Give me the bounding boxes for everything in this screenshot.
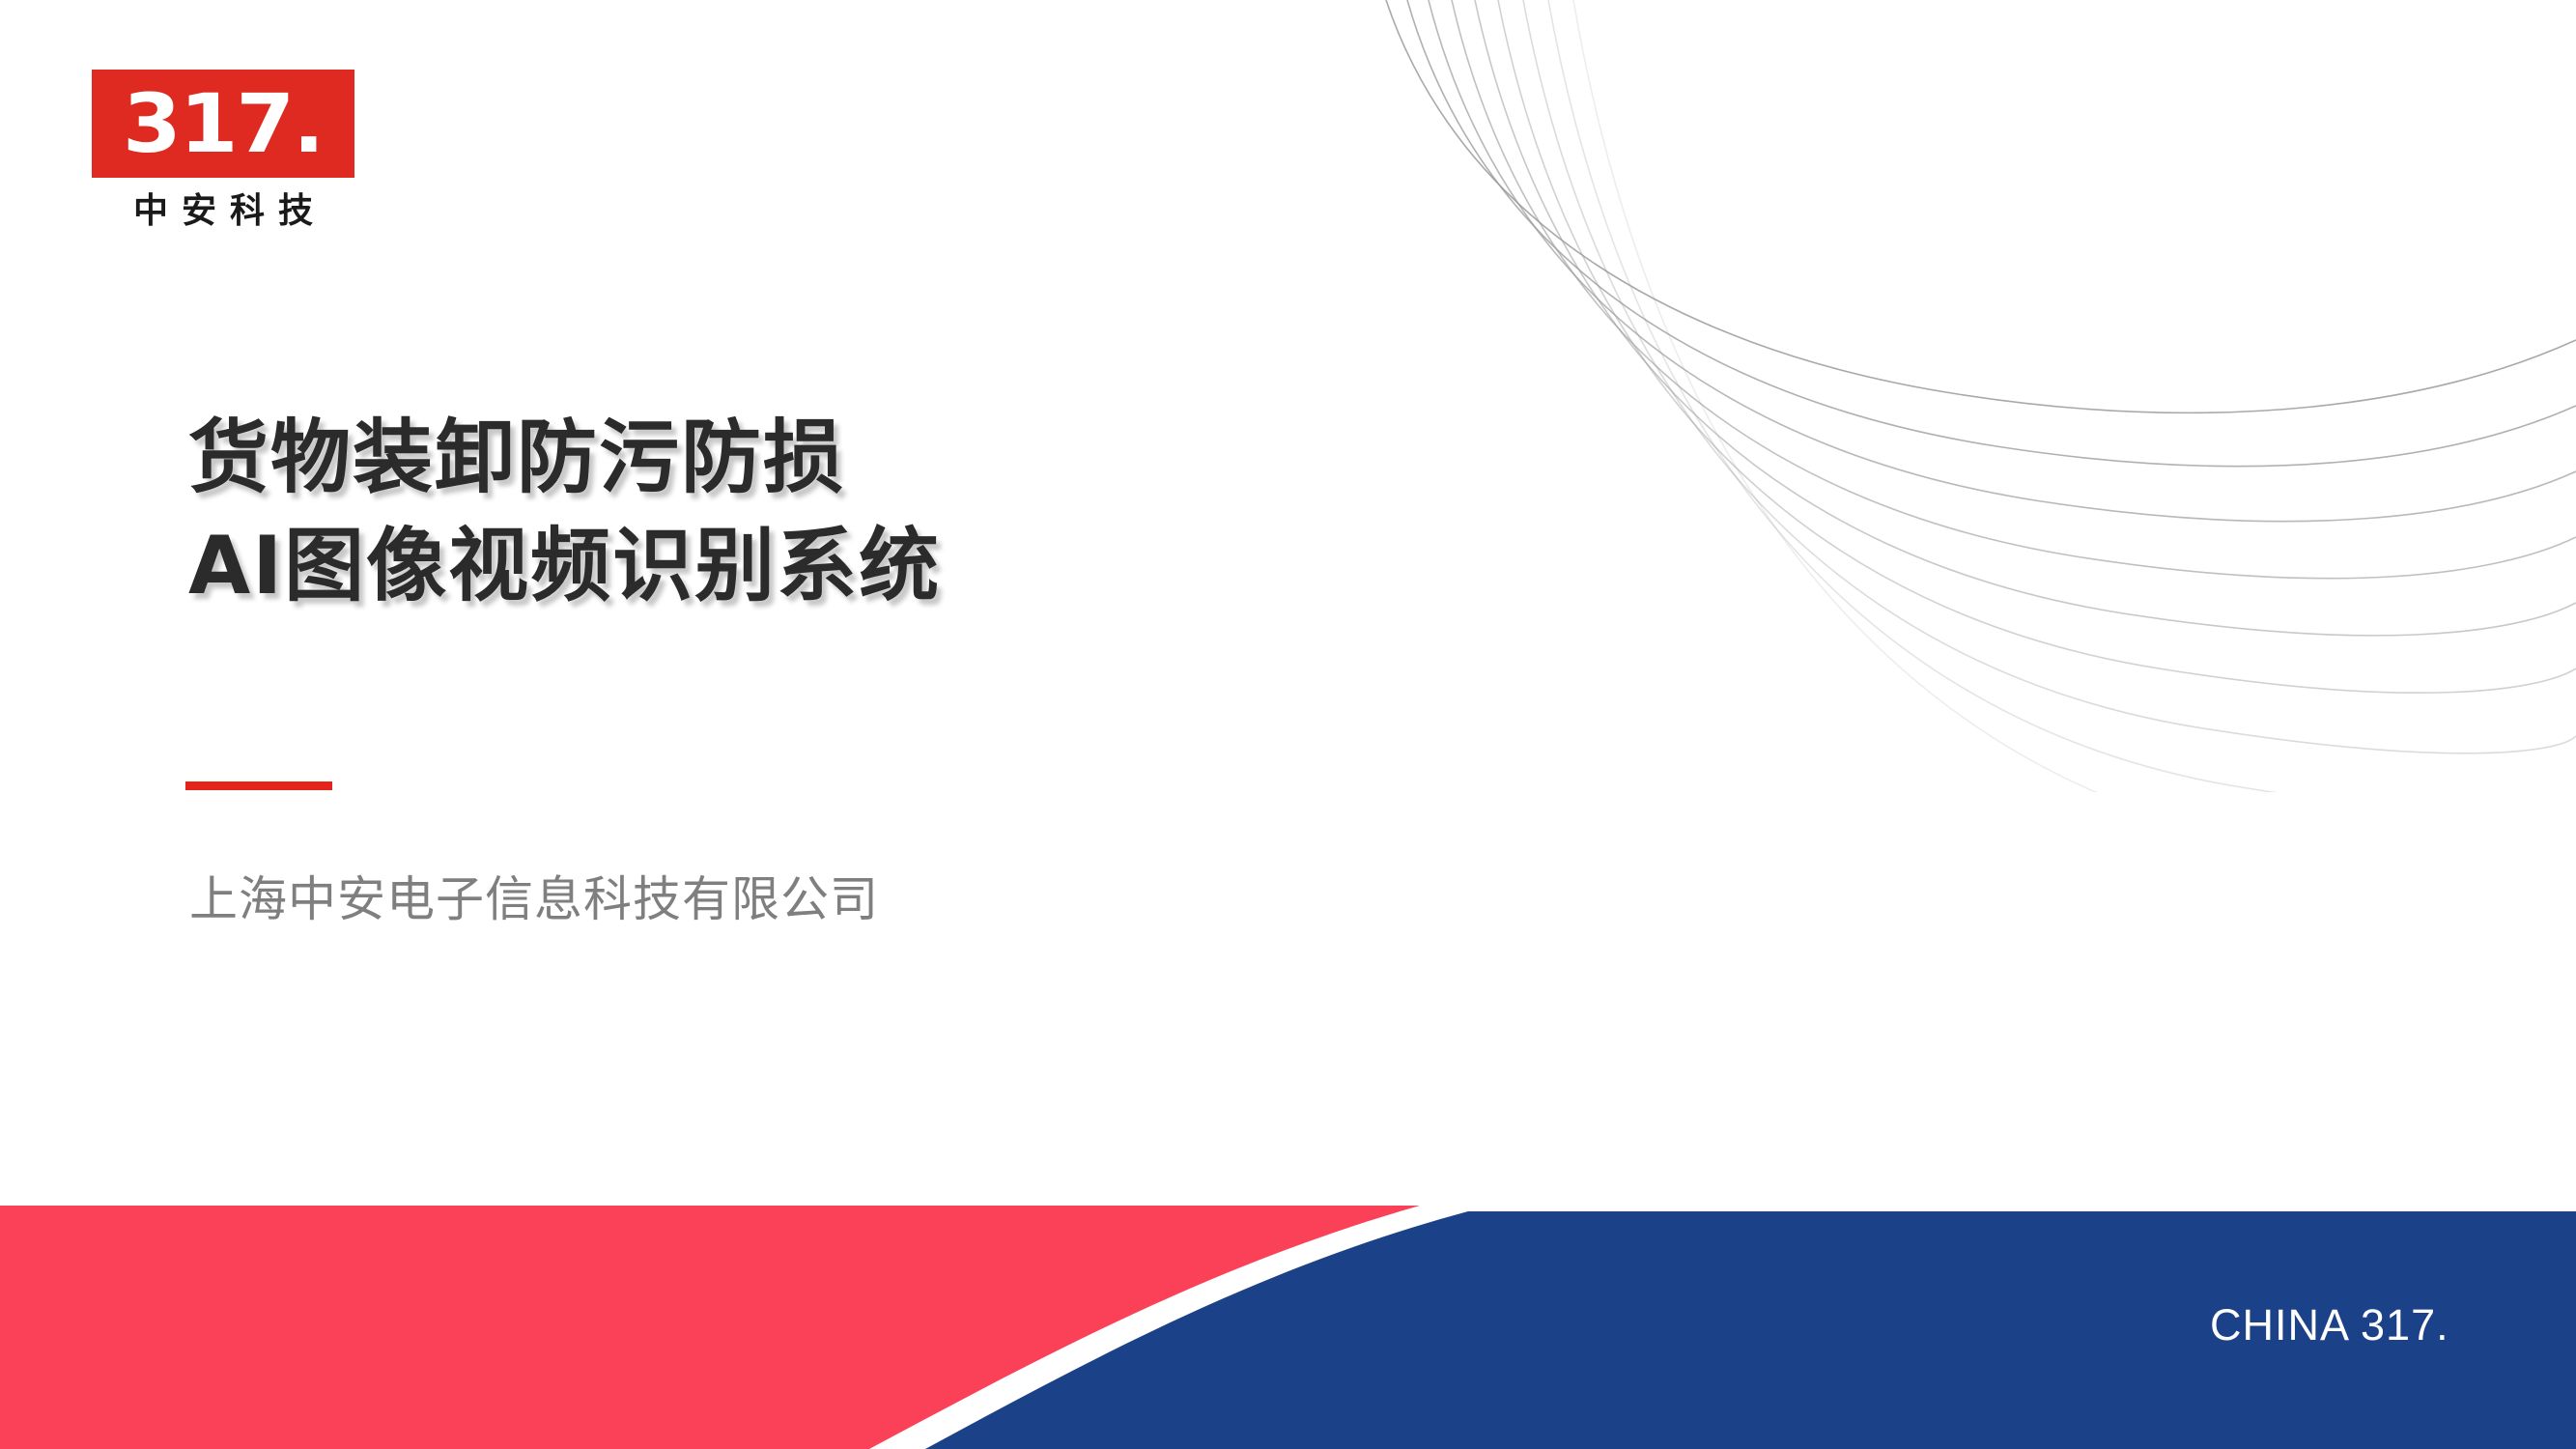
- footer-caption: CHINA 317.: [2210, 1300, 2449, 1350]
- footer-curve-shapes: [0, 1206, 2576, 1449]
- logo-mark-text: 317.: [123, 83, 323, 164]
- title-slide: 317. 中安科技 货物装卸防污防损 AI图像视频识别系统 上海中安电子信息科技…: [0, 0, 2576, 1449]
- footer-banner: [0, 1206, 2576, 1449]
- curved-line-pattern-icon: [1369, 0, 2576, 792]
- logo-mark: 317.: [92, 70, 354, 178]
- brand-logo: 317. 中安科技: [92, 70, 354, 232]
- logo-subtitle: 中安科技: [92, 191, 354, 232]
- page-title-line-1: 货物装卸防污防损: [188, 404, 1541, 512]
- page-title-line-2: AI图像视频识别系统: [188, 512, 1541, 620]
- title-divider: [185, 781, 332, 790]
- page-title: 货物装卸防污防损 AI图像视频识别系统: [188, 404, 1541, 620]
- company-name: 上海中安电子信息科技有限公司: [189, 869, 879, 929]
